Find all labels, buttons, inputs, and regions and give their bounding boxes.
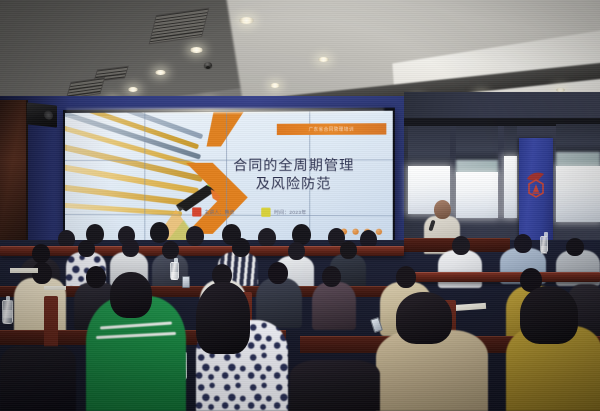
window [456, 172, 498, 218]
ceiling-downlight-icon [155, 70, 166, 75]
ceiling-downlight-icon [190, 47, 203, 53]
attendee-head [122, 239, 139, 257]
decor-dot [352, 229, 358, 235]
attendee-head [196, 282, 250, 354]
calendar-icon [262, 208, 271, 217]
attendee-head [322, 266, 341, 287]
ceiling-downlight-icon [318, 57, 329, 62]
person-icon [192, 207, 201, 216]
attendee-body [290, 360, 380, 411]
slide-meta-text: 主讲人：韩进 [204, 209, 234, 215]
window-blind [456, 126, 498, 160]
slide-meta-item: 主讲人：韩进 [192, 207, 235, 216]
water-bottle[interactable] [540, 236, 548, 253]
window-blind [504, 126, 517, 156]
decor-dot [376, 229, 382, 235]
attendee-head [514, 234, 532, 253]
window-blind [556, 124, 600, 152]
slide-title: 合同的全周期管理 及风险防范 [211, 156, 378, 193]
attendee-head [340, 241, 357, 259]
attendee-body [312, 282, 356, 330]
attendee-head [78, 240, 95, 257]
attendee-head [186, 226, 204, 246]
water-bottle[interactable] [2, 300, 13, 324]
slide-title-line1: 合同的全周期管理 [211, 156, 378, 175]
window [556, 166, 600, 222]
attendee-head [150, 222, 169, 243]
side-door-shadow [0, 100, 26, 250]
slide-meta-item: 时间：2023年 [262, 208, 307, 217]
slide-top-banner-text: 广东省合同管理培训 [309, 126, 354, 133]
attendee-body [0, 346, 76, 411]
attendee-head [162, 241, 179, 259]
attendee-head [452, 236, 470, 255]
wall-banner [519, 138, 553, 242]
panel-seam [144, 112, 145, 241]
hoodie-stripe [100, 321, 172, 329]
attendee-head [232, 238, 250, 257]
attendee-head [396, 292, 452, 344]
hexagon-emblem-icon [525, 170, 547, 200]
attendee-head [258, 228, 276, 247]
slide-meta-text: 时间：2023年 [274, 209, 306, 215]
hoodie-stripe [96, 332, 176, 339]
attendee-head [566, 238, 584, 256]
window-blind [408, 126, 450, 166]
water-bottle[interactable] [170, 262, 179, 280]
screen-top-glint [66, 108, 384, 113]
white-shirt-attendee [438, 250, 482, 288]
paper-handout [44, 286, 66, 290]
slide-title-line2: 及风险防范 [211, 175, 378, 194]
bottle-label [541, 246, 547, 254]
presenter-head [434, 200, 451, 219]
bottle-label [171, 272, 178, 280]
paper-handout [10, 268, 38, 273]
dome-camera-icon [204, 62, 212, 68]
window [504, 156, 517, 218]
wall-speaker-icon [27, 102, 57, 127]
smartphone[interactable] [182, 276, 190, 288]
ceiling-downlight-icon [239, 17, 254, 24]
attendee-head [396, 266, 416, 288]
ceiling-downlight-icon [270, 83, 280, 88]
bottle-label [3, 310, 12, 318]
slide-top-banner: 广东省合同管理培训 [277, 123, 387, 135]
attendee-head [86, 266, 106, 288]
conference-hall-photo: 广东省合同管理培训 合同的全周期管理 及风险防范 主讲人：韩进 时间：2023年 [0, 0, 600, 411]
slide-meta-row: 主讲人：韩进 时间：2023年 [192, 207, 380, 217]
attendee-head [32, 262, 52, 284]
attendee-head [110, 272, 152, 318]
attendee-head [32, 244, 50, 263]
attendee-head [520, 286, 578, 344]
ceiling-downlight-icon [128, 87, 138, 92]
attendee-head [288, 242, 305, 260]
desk-row [404, 272, 600, 282]
attendee-head [268, 262, 288, 284]
